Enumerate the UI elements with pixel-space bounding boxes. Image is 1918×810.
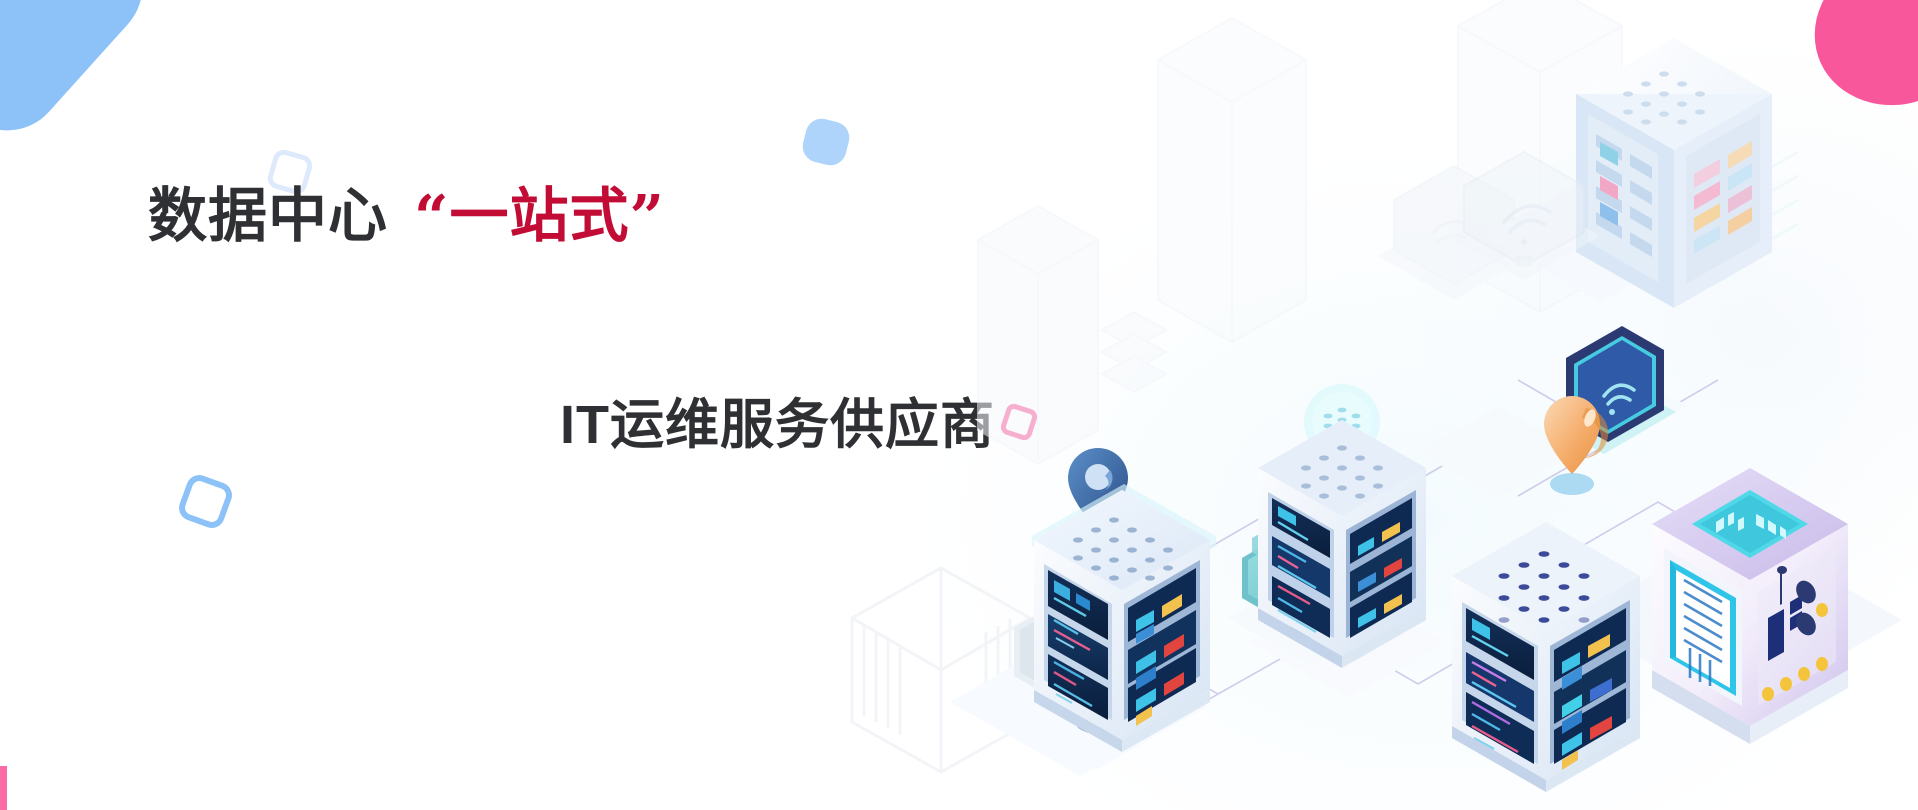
- server-rack-center: [1258, 384, 1426, 668]
- quote-open-mark: “: [414, 183, 450, 253]
- hero-banner: 数据中心“一站式” IT运维服务供应商: [0, 0, 1918, 810]
- cooling-tower-unit: [1652, 468, 1848, 744]
- headline-primary-text: 数据中心: [148, 183, 388, 249]
- server-rack-left: [1032, 484, 1216, 752]
- server-rack-front: [1452, 522, 1640, 792]
- server-rack-tall-right: [1576, 38, 1772, 308]
- blue-outline-rounded-square-icon: [175, 471, 235, 531]
- headline-highlight-text: 一站式: [450, 183, 630, 249]
- isometric-data-center-illustration: [858, 0, 1918, 810]
- blue-filled-rounded-square-icon: [799, 115, 852, 168]
- left-edge-pink-bar: [0, 766, 7, 810]
- corner-blue-rounded-square: [0, 0, 165, 153]
- quote-close-mark: ”: [630, 183, 666, 253]
